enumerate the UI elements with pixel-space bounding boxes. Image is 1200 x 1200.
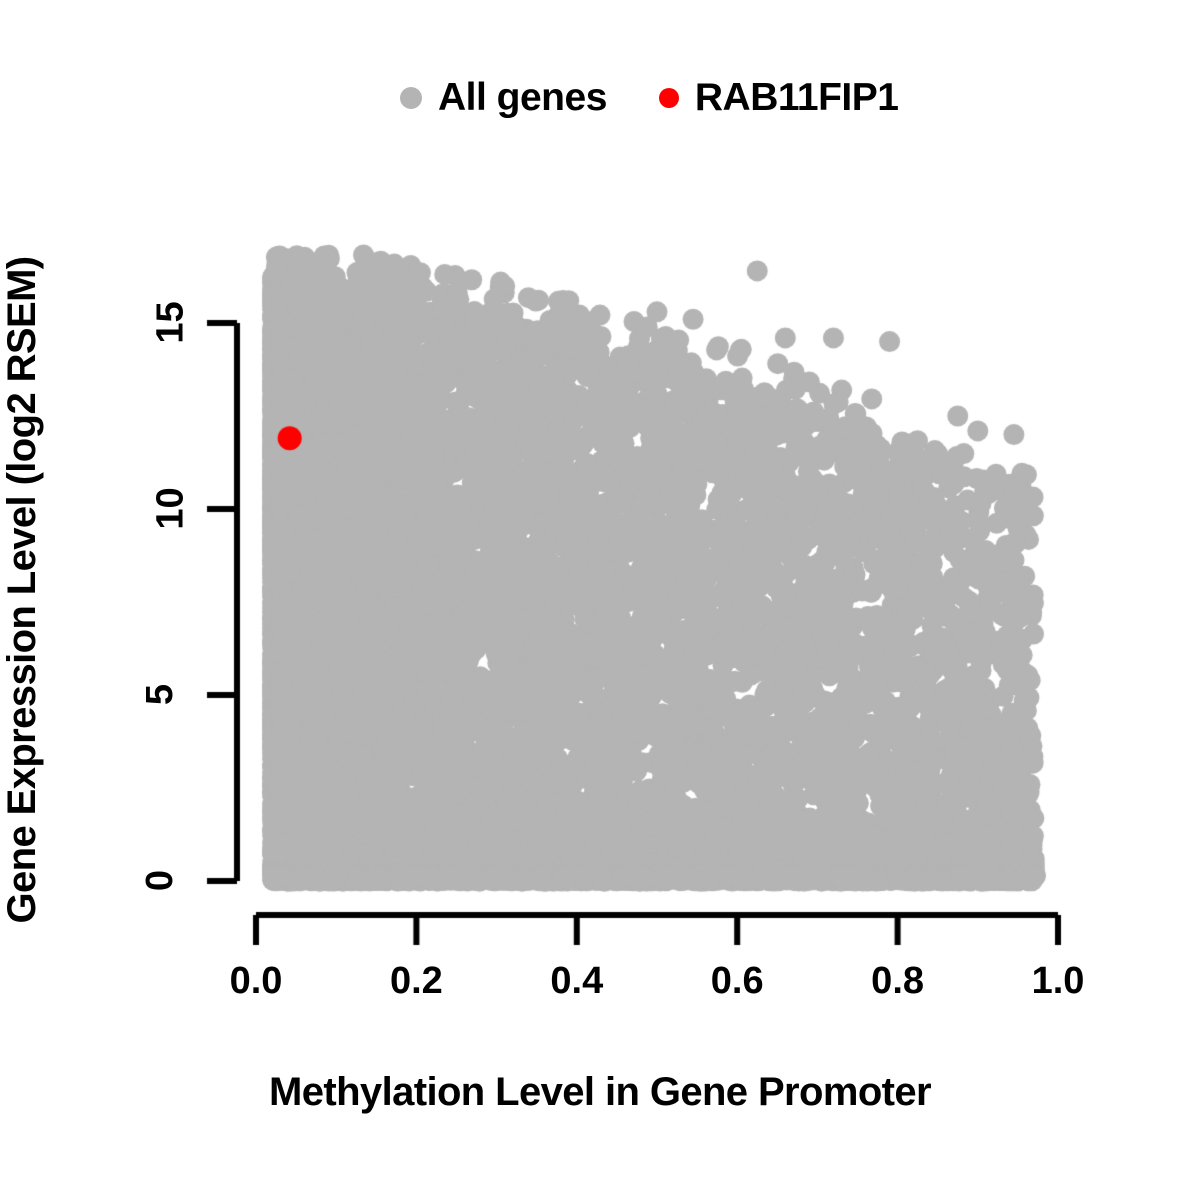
chart-legend: All genes RAB11FIP1: [400, 78, 898, 117]
legend-label-rab11fip1: RAB11FIP1: [695, 78, 899, 117]
scatter-plot-canvas: [0, 0, 1200, 1200]
scatter-plot-figure: All genes RAB11FIP1 0.00.20.40.60.81.005…: [0, 0, 1200, 1200]
legend-marker-rab11fip1: [659, 88, 679, 108]
legend-label-all-genes: All genes: [438, 78, 607, 117]
legend-marker-all-genes: [400, 87, 422, 109]
legend-item-all-genes[interactable]: All genes: [400, 78, 607, 117]
legend-item-rab11fip1[interactable]: RAB11FIP1: [659, 78, 899, 117]
